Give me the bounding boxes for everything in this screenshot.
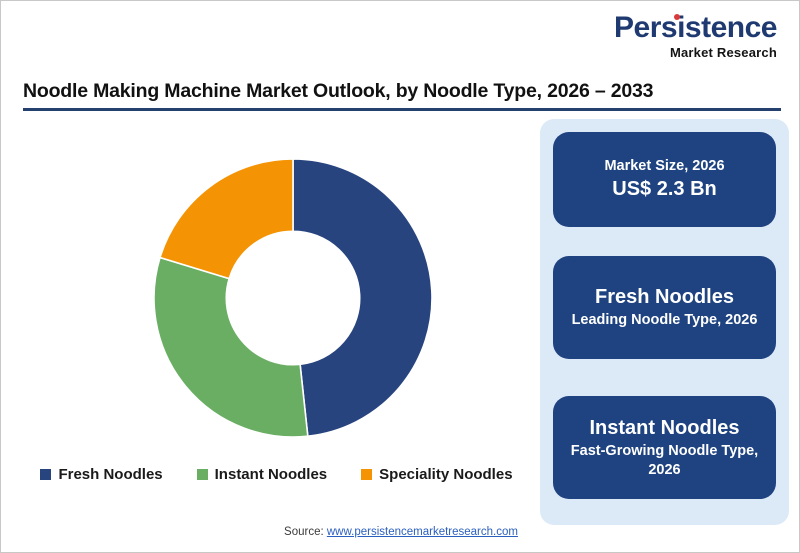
- title-block: Noodle Making Machine Market Outlook, by…: [23, 80, 781, 111]
- donut-slice-group: [154, 159, 432, 437]
- kpi-side-panel: Market Size, 2026 US$ 2.3 Bn Fresh Noodl…: [540, 119, 789, 525]
- donut-slice-speciality-noodles: [160, 159, 293, 279]
- donut-slice-instant-noodles: [154, 258, 308, 437]
- legend-swatch-fresh-noodles: [40, 469, 51, 480]
- kpi-card-market-size-label: Market Size, 2026: [604, 157, 724, 175]
- page-title: Noodle Making Machine Market Outlook, by…: [23, 80, 781, 103]
- kpi-card-leading-type: Fresh Noodles Leading Noodle Type, 2026: [553, 256, 776, 359]
- kpi-card-fastest-growing-type: Instant Noodles Fast-Growing Noodle Type…: [553, 396, 776, 499]
- company-logo: Persistence Market Research: [614, 13, 777, 59]
- legend-label-fresh-noodles: Fresh Noodles: [58, 466, 162, 483]
- kpi-card-fastest-growing-type-value: Instant Noodles: [589, 416, 739, 441]
- infographic-page: Persistence Market Research Noodle Makin…: [0, 0, 800, 553]
- source-url-link[interactable]: www.persistencemarketresearch.com: [327, 526, 518, 538]
- legend-label-instant-noodles: Instant Noodles: [215, 466, 328, 483]
- legend-item-speciality-noodles: Speciality Noodles: [361, 466, 512, 483]
- logo-red-dot-icon: [674, 14, 680, 20]
- chart-area: [9, 111, 534, 511]
- chart-legend: Fresh Noodles Instant Noodles Speciality…: [19, 466, 534, 483]
- kpi-card-leading-type-label: Leading Noodle Type, 2026: [572, 311, 758, 329]
- logo-subtitle: Market Research: [614, 46, 777, 59]
- kpi-card-leading-type-value: Fresh Noodles: [595, 285, 734, 310]
- donut-chart-svg: [152, 157, 434, 439]
- kpi-card-market-size: Market Size, 2026 US$ 2.3 Bn: [553, 132, 776, 227]
- source-prefix: Source:: [284, 526, 327, 538]
- kpi-card-market-size-value: US$ 2.3 Bn: [612, 177, 716, 202]
- legend-swatch-speciality-noodles: [361, 469, 372, 480]
- logo-brand-label: Persistence: [614, 11, 777, 44]
- legend-item-instant-noodles: Instant Noodles: [197, 466, 328, 483]
- logo-brand-text: Persistence: [614, 13, 777, 43]
- donut-slice-fresh-noodles: [293, 159, 432, 436]
- legend-item-fresh-noodles: Fresh Noodles: [40, 466, 162, 483]
- kpi-card-fastest-growing-type-label: Fast-Growing Noodle Type, 2026: [567, 442, 762, 478]
- source-line: Source: www.persistencemarketresearch.co…: [1, 526, 800, 538]
- donut-chart: [152, 157, 434, 439]
- legend-label-speciality-noodles: Speciality Noodles: [379, 466, 512, 483]
- legend-swatch-instant-noodles: [197, 469, 208, 480]
